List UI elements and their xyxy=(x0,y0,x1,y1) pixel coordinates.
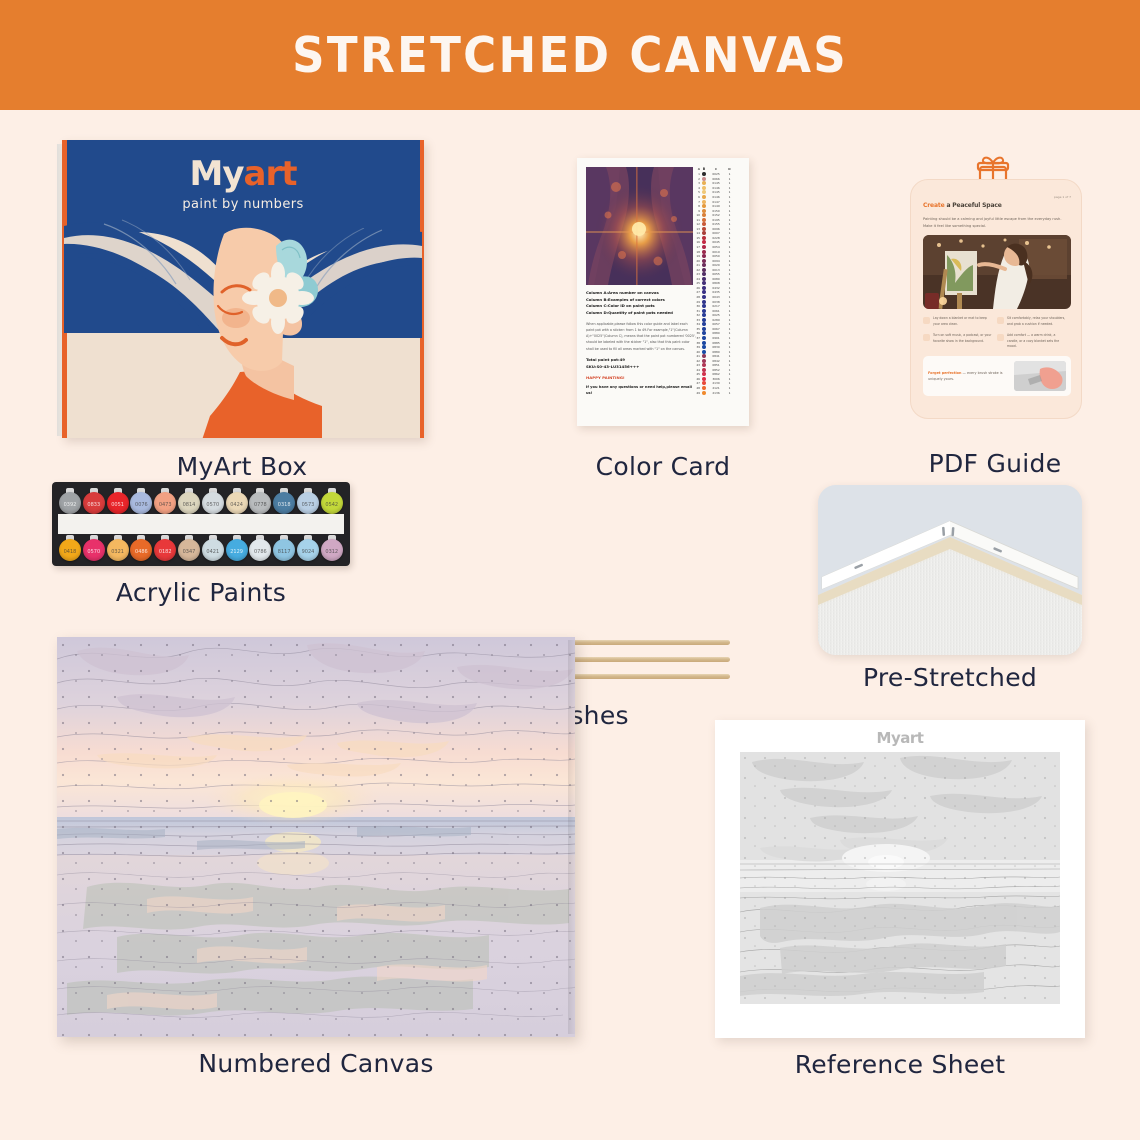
cc-color-id: 0061 xyxy=(706,309,726,313)
pot-color-id: 0573 xyxy=(297,502,319,508)
tip-drink-icon xyxy=(997,334,1004,341)
paint-pot[interactable]: 0076 xyxy=(130,488,152,514)
pdf-tip: Lay down a blanket or mat to keep your a… xyxy=(923,316,997,327)
pdf-footer-image xyxy=(1014,361,1066,391)
product-myart-box: Myart paint by numbers MyArt Box xyxy=(57,140,427,440)
pot-color-id: 0418 xyxy=(59,549,81,555)
box-logo: Myart paint by numbers xyxy=(62,154,424,212)
pdf-photo-scene xyxy=(923,235,1071,309)
paint-pot[interactable]: 0421 xyxy=(202,535,224,561)
pot-color-id: 0778 xyxy=(249,502,271,508)
cc-color-id: 0228 xyxy=(706,236,726,240)
cc-column-a: Column A:Area number on canvas xyxy=(586,290,696,297)
cc-quantity: 1 xyxy=(726,263,733,267)
cc-color-id: 0050 xyxy=(706,254,726,258)
cc-quantity: 1 xyxy=(726,327,733,331)
cc-color-id: 0094 xyxy=(706,259,726,263)
pot-color-id: 0076 xyxy=(130,502,152,508)
product-grid: Myart paint by numbers MyArt Box xyxy=(0,110,1140,1140)
caption-myart-box: MyArt Box xyxy=(57,452,427,481)
cc-color-id: 0880 xyxy=(706,350,726,354)
cc-color-id: 0054 xyxy=(706,245,726,249)
paint-pot[interactable]: 0473 xyxy=(154,488,176,514)
cc-color-id: 0155 xyxy=(706,222,726,226)
pdf-tips-list: Lay down a blanket or mat to keep your a… xyxy=(923,316,1071,355)
product-pdf-guide: Create a Peaceful Space page 1 of 7 Pain… xyxy=(895,155,1095,427)
cc-quantity: 1 xyxy=(726,381,733,385)
cc-color-id: 0841 xyxy=(706,354,726,358)
cc-color-id: 0007 xyxy=(706,231,726,235)
cc-quantity: 1 xyxy=(726,177,733,181)
pot-color-id: 0570 xyxy=(83,549,105,555)
cc-color-id: 0432 xyxy=(706,286,726,290)
cc-quantity: 1 xyxy=(726,209,733,213)
cc-quantity: 1 xyxy=(726,359,733,363)
paint-pot[interactable]: 0051 xyxy=(107,488,129,514)
cc-color-id: 0096 xyxy=(706,227,726,231)
cc-quantity: 1 xyxy=(726,204,733,208)
cc-color-id: 0217 xyxy=(706,304,726,308)
cc-color-id: 0852 xyxy=(706,368,726,372)
pdf-title: Create a Peaceful Space xyxy=(923,202,1002,209)
cc-quantity: 1 xyxy=(726,250,733,254)
pdf-tip: Turn on soft music, a podcast, or your f… xyxy=(923,333,997,349)
cc-quantity: 1 xyxy=(726,341,733,345)
pdf-footer-card: Forget perfection — every brush stroke i… xyxy=(923,356,1071,396)
cc-color-id: 0045 xyxy=(706,240,726,244)
cc-color-id: 0025 xyxy=(706,172,726,176)
pot-color-id: 0347 xyxy=(178,549,200,555)
cc-color-id: 2130 xyxy=(706,381,726,385)
pre-stretched-photo xyxy=(818,485,1082,655)
color-card-artwork xyxy=(586,167,693,285)
cc-color-id: 0019 xyxy=(706,250,726,254)
paint-pot[interactable]: 0570 xyxy=(83,535,105,561)
pdf-guide-page: Create a Peaceful Space page 1 of 7 Pain… xyxy=(910,179,1082,419)
cc-color-id: 0435 xyxy=(706,290,726,294)
cc-color-id: 0146 xyxy=(706,186,726,190)
tip-blanket-icon xyxy=(923,317,930,324)
cc-quantity: 1 xyxy=(726,236,733,240)
paint-pot[interactable]: 8117 xyxy=(273,535,295,561)
caption-acrylic-paints: Acrylic Paints xyxy=(52,578,350,607)
cc-color-id: 0055 xyxy=(706,272,726,276)
cc-quantity: 1 xyxy=(726,372,733,376)
cc-quantity: 1 xyxy=(726,363,733,367)
cc-quantity: 1 xyxy=(726,331,733,335)
cc-quantity: 1 xyxy=(726,254,733,258)
footer-bold: Forget perfection xyxy=(928,371,961,375)
artwork-texture xyxy=(586,167,693,285)
cc-quantity: 1 xyxy=(726,313,733,317)
caption-pdf-guide: PDF Guide xyxy=(895,449,1095,478)
pot-color-id: 0421 xyxy=(202,549,224,555)
color-card-sheet: Column A:Area number on canvas Column B:… xyxy=(577,158,749,426)
paint-pot[interactable]: 0392 xyxy=(59,488,81,514)
color-card-table: A B C D 10025120066130145140146150145160… xyxy=(696,167,744,395)
cc-quantity: 1 xyxy=(726,377,733,381)
logo-art-text: art xyxy=(244,154,297,194)
pot-color-id: 2129 xyxy=(226,549,248,555)
cc-quantity: 1 xyxy=(726,300,733,304)
cc-th-c: C xyxy=(706,167,726,171)
pot-color-id: 0392 xyxy=(59,502,81,508)
cc-column-c: Column C:Color ID on paint pots xyxy=(586,303,696,310)
paint-pot[interactable]: 0312 xyxy=(321,535,343,561)
cc-quantity: 1 xyxy=(726,272,733,276)
cc-color-id: 2136 xyxy=(706,391,726,395)
paint-pot[interactable]: 2129 xyxy=(226,535,248,561)
cc-quantity: 1 xyxy=(726,304,733,308)
product-pre-stretched: Pre-Stretched xyxy=(818,485,1082,655)
cc-color-id: 0080 xyxy=(706,277,726,281)
caption-reference-sheet: Reference Sheet xyxy=(715,1050,1085,1079)
product-numbered-canvas: Numbered Canvas xyxy=(57,637,575,1037)
paint-pot[interactable]: 0347 xyxy=(178,535,200,561)
cc-happy-painting: HAPPY PAINTING! xyxy=(586,375,696,382)
cc-quantity: 1 xyxy=(726,190,733,194)
pot-color-id: 0182 xyxy=(154,549,176,555)
pot-color-id: 0814 xyxy=(178,502,200,508)
cc-color-id: 0830 xyxy=(706,345,726,349)
tip-posture-icon xyxy=(997,317,1004,324)
cc-quantity: 1 xyxy=(726,391,733,395)
pot-color-id: 0424 xyxy=(226,502,248,508)
cc-color-id: 0147 xyxy=(706,200,726,204)
cc-quantity: 1 xyxy=(726,336,733,340)
cc-quantity: 1 xyxy=(726,277,733,281)
paint-pot[interactable]: 0418 xyxy=(59,535,81,561)
pot-color-id: 0321 xyxy=(107,549,129,555)
caption-numbered-canvas: Numbered Canvas xyxy=(57,1049,575,1078)
cc-quantity: 1 xyxy=(726,200,733,204)
cc-quantity: 1 xyxy=(726,186,733,190)
cc-quantity: 1 xyxy=(726,295,733,299)
tip-text: Turn on soft music, a podcast, or your f… xyxy=(933,333,992,349)
paint-pot[interactable]: 0814 xyxy=(178,488,200,514)
paint-pot[interactable]: 0786 xyxy=(249,535,271,561)
cc-color-id: 0057 xyxy=(706,322,726,326)
cc-color-id: 3006 xyxy=(706,377,726,381)
caption-pre-stretched: Pre-Stretched xyxy=(818,663,1082,692)
tip-text: Sit comfortably, relax your shoulders, a… xyxy=(1007,316,1066,327)
cc-color-id: 0013 xyxy=(706,268,726,272)
cc-color-id: 0146 xyxy=(706,195,726,199)
canvas-seascape-artwork xyxy=(57,637,575,1037)
footer-hand-painting xyxy=(1014,361,1066,391)
pot-color-id: 8117 xyxy=(273,549,295,555)
cc-quantity: 1 xyxy=(726,345,733,349)
pot-color-id: 0542 xyxy=(321,502,343,508)
cc-quantity: 1 xyxy=(726,172,733,176)
pot-color-id: 0786 xyxy=(249,549,271,555)
paint-tray: 0392083300510076047308140570042407780318… xyxy=(52,482,350,566)
reference-sheet-artwork xyxy=(740,752,1060,1004)
color-card-instructions: Column A:Area number on canvas Column B:… xyxy=(586,290,696,396)
cc-color-id: 0885 xyxy=(706,341,726,345)
cc-quantity: 1 xyxy=(726,181,733,185)
cc-table-header: A B C D xyxy=(696,167,744,171)
box-logo-wordmark: Myart xyxy=(62,154,424,194)
cc-column-d: Column D:Quantity of paint pots needed xyxy=(586,310,696,317)
pdf-lead-text: Painting should be a calming and joyful … xyxy=(923,216,1071,229)
paint-pot[interactable]: 0778 xyxy=(249,488,271,514)
pot-color-id: 0312 xyxy=(321,549,343,555)
cc-quantity: 1 xyxy=(726,350,733,354)
cc-color-id: 0880 xyxy=(706,331,726,335)
cc-quantity: 1 xyxy=(726,368,733,372)
cc-color-id: 0066 xyxy=(706,177,726,181)
pdf-title-rest: a Peaceful Space xyxy=(945,202,1002,209)
product-acrylic-paints: 0392083300510076047308140570042407780318… xyxy=(52,482,350,566)
paint-pot[interactable]: 9024 xyxy=(297,535,319,561)
canvas-corner-illustration xyxy=(818,485,1082,655)
cc-quantity: 1 xyxy=(726,322,733,326)
cc-quantity: 1 xyxy=(726,309,733,313)
cc-quantity: 1 xyxy=(726,386,733,390)
cc-quantity: 1 xyxy=(726,245,733,249)
cc-color-id: 0145 xyxy=(706,190,726,194)
pdf-page-label: page 1 of 7 xyxy=(1054,195,1071,199)
paint-pot[interactable]: 0833 xyxy=(83,488,105,514)
cc-quantity: 1 xyxy=(726,231,733,235)
cc-quantity: 1 xyxy=(726,286,733,290)
pdf-tip: Sit comfortably, relax your shoulders, a… xyxy=(997,316,1071,327)
cc-th-d: D xyxy=(726,167,733,171)
paint-pot[interactable]: 0542 xyxy=(321,488,343,514)
cc-color-id: 0067 xyxy=(706,327,726,331)
pdf-tip: Add comfort — a warm drink, a candle, or… xyxy=(997,333,1071,349)
woman-illustration xyxy=(182,220,322,438)
reference-sheet-logo: Myart xyxy=(715,729,1085,747)
cc-color-id: 0289 xyxy=(706,318,726,322)
paint-pot[interactable]: 0318 xyxy=(273,488,295,514)
cc-quantity: 1 xyxy=(726,318,733,322)
pdf-footer-text: Forget perfection — every brush stroke i… xyxy=(928,370,1014,382)
cc-quantity: 1 xyxy=(726,222,733,226)
box-tagline: paint by numbers xyxy=(62,197,424,212)
canvas-side-edge xyxy=(568,640,575,1034)
cc-body-text: When applicable,please follow this color… xyxy=(586,321,696,352)
cc-table-row: 4921361 xyxy=(696,390,744,395)
cc-sku: SKU:S0-43-LU31456+++ xyxy=(586,364,696,371)
pot-color-id: 0486 xyxy=(130,549,152,555)
cc-color-id: 0020 xyxy=(706,263,726,267)
paint-pots-top-row: 0392083300510076047308140570042407780318… xyxy=(59,488,345,514)
cc-color-id: 0808 xyxy=(706,281,726,285)
pot-color-id: 0318 xyxy=(273,502,295,508)
page-header: STRETCHED CANVAS xyxy=(0,0,1140,110)
paint-pot[interactable]: 0486 xyxy=(130,535,152,561)
pot-color-id: 0833 xyxy=(83,502,105,508)
cc-quantity: 1 xyxy=(726,354,733,358)
product-color-card: Column A:Area number on canvas Column B:… xyxy=(577,158,749,426)
cc-color-id: 0145 xyxy=(706,181,726,185)
cc-color-id: 0043 xyxy=(706,295,726,299)
product-reference-sheet: Myart xyxy=(715,720,1085,1038)
cc-quantity: 1 xyxy=(726,281,733,285)
pdf-title-highlight: Create xyxy=(923,202,945,209)
box-front-face: Myart paint by numbers xyxy=(62,140,424,438)
paint-pot[interactable]: 0573 xyxy=(297,488,319,514)
pot-color-id: 0051 xyxy=(107,502,129,508)
tip-text: Add comfort — a warm drink, a candle, or… xyxy=(1007,333,1066,349)
pdf-guide-content: Create a Peaceful Space page 1 of 7 Pain… xyxy=(923,194,1071,406)
tip-music-icon xyxy=(923,334,930,341)
cc-contact-line: If you have any questions or need help,p… xyxy=(586,384,696,396)
paint-pot[interactable]: 0321 xyxy=(107,535,129,561)
cc-color-id: 0150 xyxy=(706,209,726,213)
paint-pots-bottom-row: 0418057003210486018203470421212907868117… xyxy=(59,535,345,561)
pot-color-id: 9024 xyxy=(297,549,319,555)
paint-pot[interactable]: 0182 xyxy=(154,535,176,561)
cc-color-id: 0038 xyxy=(706,300,726,304)
logo-my-text: My xyxy=(190,154,244,194)
cc-total-pots: Total paint pot:49 xyxy=(586,357,696,364)
paint-label-strip xyxy=(58,514,344,534)
caption-color-card: Color Card xyxy=(577,452,749,481)
cc-quantity: 1 xyxy=(726,290,733,294)
cc-quantity: 1 xyxy=(726,227,733,231)
cc-quantity: 1 xyxy=(726,218,733,222)
pot-color-id: 0473 xyxy=(154,502,176,508)
cc-color-id: 0195 xyxy=(706,218,726,222)
cc-color-id: 2121 xyxy=(706,386,726,390)
paint-pot[interactable]: 0424 xyxy=(226,488,248,514)
cc-color-id: 0851 xyxy=(706,363,726,367)
reference-sheet-paper: Myart xyxy=(715,720,1085,1038)
cc-color-id: 0025 xyxy=(706,313,726,317)
cc-quantity: 1 xyxy=(726,195,733,199)
pdf-photo xyxy=(923,235,1071,309)
pot-color-id: 0570 xyxy=(202,502,224,508)
tip-text: Lay down a blanket or mat to keep your a… xyxy=(933,316,992,327)
cc-quantity: 1 xyxy=(726,240,733,244)
cc-color-id: 0862 xyxy=(706,372,726,376)
numbered-canvas-surface xyxy=(57,637,575,1037)
cc-quantity: 1 xyxy=(726,268,733,272)
cc-color-id: 0842 xyxy=(706,359,726,363)
cc-quantity: 1 xyxy=(726,213,733,217)
cc-quantity: 1 xyxy=(726,259,733,263)
cc-table-body: 1002512006613014514014615014516014617014… xyxy=(696,172,744,395)
cc-color-id: 0152 xyxy=(706,213,726,217)
cc-color-id: 0149 xyxy=(706,204,726,208)
cc-color-id: 0901 xyxy=(706,336,726,340)
paint-pot[interactable]: 0570 xyxy=(202,488,224,514)
page-title: STRETCHED CANVAS xyxy=(292,27,848,84)
reference-grayscale-outline xyxy=(740,752,1060,1004)
cc-column-b: Column B:Examples of correct colors xyxy=(586,297,696,304)
